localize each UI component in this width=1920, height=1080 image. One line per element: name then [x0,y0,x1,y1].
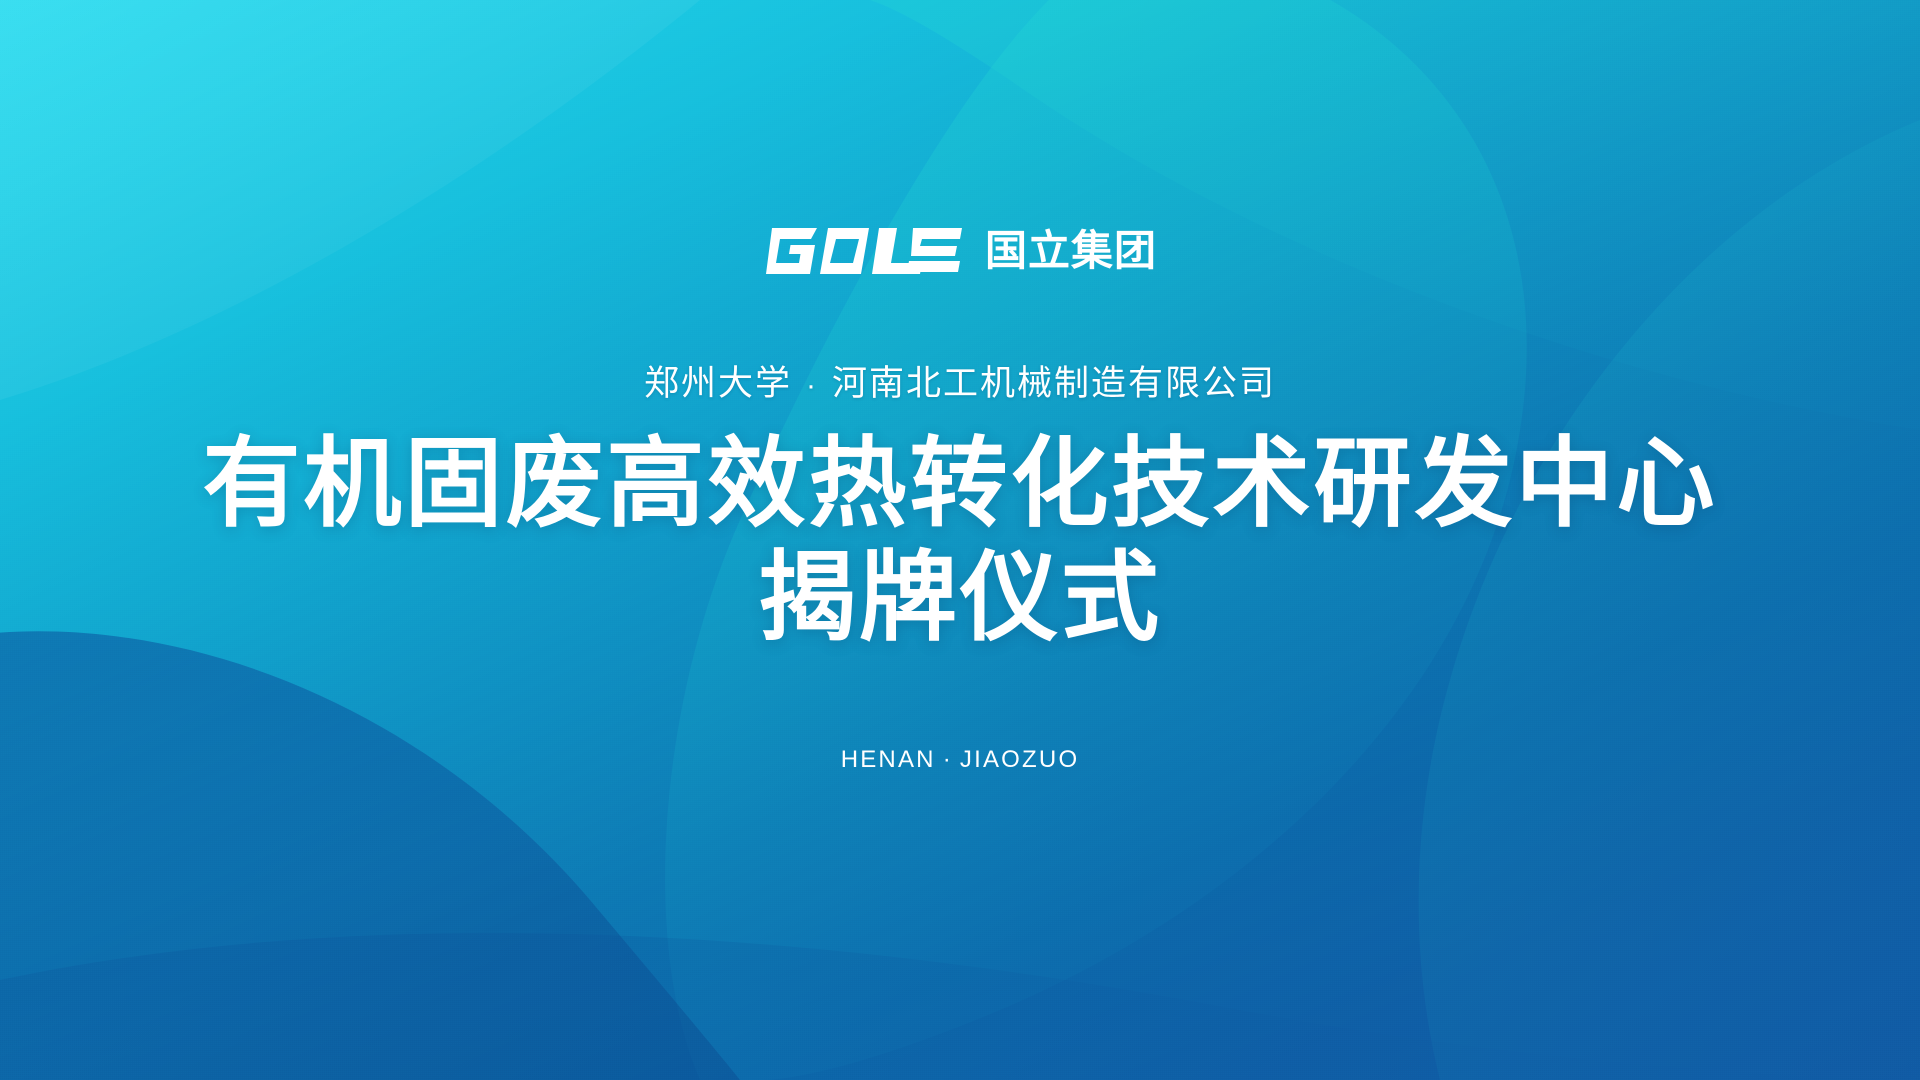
organization-secondary: 河南北工机械制造有限公司 [832,364,1276,403]
location-city: JIAOZUO [960,746,1079,773]
location-province: HENAN [841,746,936,773]
brand-logo-lockup: 国立集团 [763,222,1157,280]
title-line-2: 揭牌仪式 [202,541,1717,655]
organizations-separator: · [792,371,832,401]
event-title-slide: 国立集团 郑州大学·河南北工机械制造有限公司 有机固废高效热转化技术研发中心 揭… [0,0,1920,1080]
gole-logo-mark [763,228,963,274]
organizations-line: 郑州大学·河南北工机械制造有限公司 [644,366,1276,401]
slide-content: 国立集团 郑州大学·河南北工机械制造有限公司 有机固废高效热转化技术研发中心 揭… [0,0,1920,1080]
location-separator: · [936,746,960,773]
location-line: HENAN·JIAOZUO [841,748,1080,772]
brand-logo-cn-text: 国立集团 [985,230,1157,272]
organization-primary: 郑州大学 [644,364,792,403]
title-line-1: 有机固废高效热转化技术研发中心 [202,427,1717,541]
page-title: 有机固废高效热转化技术研发中心 揭牌仪式 [202,427,1717,654]
